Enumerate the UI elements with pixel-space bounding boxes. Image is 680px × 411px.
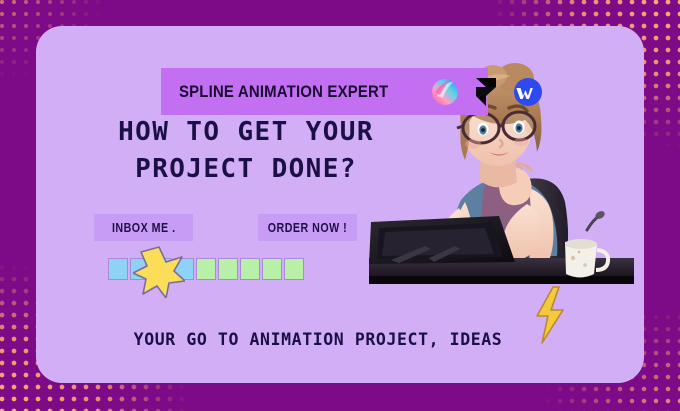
order-now-label: ORDER NOW ! [268,220,347,235]
main-card: SPLINE ANIMATION EXPERT [36,26,644,383]
progress-cell [262,258,282,280]
progress-indicator [105,258,304,280]
headline-line-2: PROJECT DONE? [76,151,416,188]
badge-title: SPLINE ANIMATION EXPERT [179,82,388,102]
headline-line-1: HOW TO GET YOUR [118,117,374,147]
lightning-bolt-icon [530,286,570,344]
badge-bar: SPLINE ANIMATION EXPERT [161,68,488,115]
framer-logo [473,77,499,107]
inbox-me-label: INBOX ME . [112,220,176,235]
inbox-me-button[interactable]: INBOX ME . [94,214,193,241]
spline-logo [431,78,459,106]
order-now-button[interactable]: ORDER NOW ! [258,214,357,241]
star-burst-icon [133,246,185,298]
progress-cell [108,258,128,280]
webflow-logo [513,77,543,107]
progress-cell [196,258,216,280]
progress-cell [284,258,304,280]
thumbnail-canvas: SPLINE ANIMATION EXPERT [0,0,680,411]
page-title: HOW TO GET YOUR PROJECT DONE? [76,114,416,188]
tagline: YOUR GO TO ANIMATION PROJECT, IDEAS [88,330,548,349]
progress-cell [240,258,260,280]
progress-cell [218,258,238,280]
